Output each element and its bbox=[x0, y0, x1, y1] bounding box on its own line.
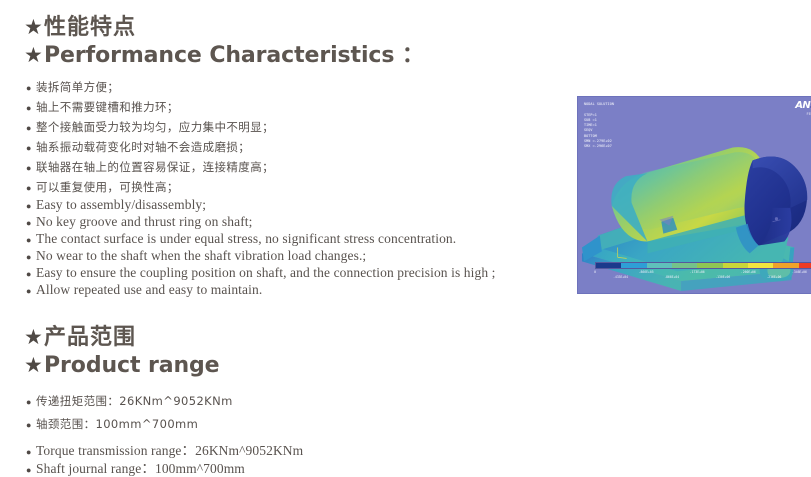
contour-legend: 0.866E+05.173E+06.260E+06.346E+06.433E+0… bbox=[595, 262, 811, 281]
list-item-label: Torque transmission range：26KNm^9052KNm bbox=[36, 439, 303, 459]
legend-swatch-6 bbox=[748, 263, 773, 268]
list-item-label: 可以重复使用，可换性高； bbox=[36, 179, 179, 195]
legend-color-bar bbox=[595, 262, 811, 269]
legend-swatch-3 bbox=[672, 263, 697, 268]
legend-swatch-0 bbox=[596, 263, 621, 268]
list-item-label: No wear to the shaft when the shaft vibr… bbox=[36, 248, 366, 264]
star-icon: ★ bbox=[24, 45, 43, 66]
product-range-heading-block: ★ 产品范围 ★ Product range bbox=[24, 324, 219, 380]
list-item-label: Shaft journal range：100mm^700mm bbox=[36, 457, 245, 477]
list-item: ● 整个接触面受力较为均匀，应力集中不明显； bbox=[26, 119, 274, 139]
performance-list-cn: ● 装拆简单方便； ● 轴上不需要键槽和推力环； ● 整个接触面受力较为均匀，应… bbox=[26, 79, 274, 199]
legend-tick-upper-0: 0 bbox=[594, 270, 596, 274]
bullet-dot-icon: ● bbox=[26, 184, 36, 193]
legend-tick-lower-0: .433E+04 bbox=[613, 275, 628, 279]
performance-heading-cn: 性能特点 bbox=[44, 14, 136, 41]
bullet-dot-icon: ● bbox=[26, 124, 36, 133]
bullet-dot-icon: ● bbox=[26, 104, 36, 113]
ansys-logo-left: AN bbox=[795, 100, 810, 111]
performance-heading-en: Performance Characteristics ： bbox=[44, 41, 424, 70]
list-item-label: Easy to assembly/disassembly; bbox=[36, 197, 206, 213]
star-icon: ★ bbox=[24, 355, 43, 376]
list-item: ● 可以重复使用，可换性高； bbox=[26, 179, 274, 199]
list-item: ● Shaft journal range：100mm^700mm bbox=[26, 457, 303, 475]
fea-date-text: FEB 18 2009 07:40:34 bbox=[807, 112, 811, 123]
legend-tick-labels: 0.866E+05.173E+06.260E+06.346E+06.433E+0… bbox=[595, 269, 811, 280]
product-range-heading-cn-line: ★ 产品范围 bbox=[24, 324, 219, 351]
legend-tick-upper-1: .866E+05 bbox=[639, 270, 654, 274]
list-item: ● No wear to the shaft when the shaft vi… bbox=[26, 248, 496, 265]
ansys-logo: ANSYS bbox=[795, 100, 811, 111]
legend-tick-lower-2: .130E+06 bbox=[715, 275, 730, 279]
legend-swatch-5 bbox=[723, 263, 748, 268]
list-item: ● 轴系振动载荷变化时对轴不会造成磨损； bbox=[26, 139, 274, 159]
bullet-dot-icon: ● bbox=[26, 202, 36, 211]
list-item-label: Easy to ensure the coupling position on … bbox=[36, 265, 496, 281]
product-range-heading-en-line: ★ Product range bbox=[24, 351, 219, 380]
legend-tick-upper-2: .173E+06 bbox=[690, 270, 705, 274]
list-item: ● 传递扭矩范围：26KNm^9052KNm bbox=[26, 393, 233, 416]
list-item: ● Easy to ensure the coupling position o… bbox=[26, 265, 496, 282]
list-item: ● Torque transmission range：26KNm^9052KN… bbox=[26, 439, 303, 457]
performance-list-en: ● Easy to assembly/disassembly; ● No key… bbox=[26, 197, 496, 299]
legend-tick-lower-1: .866E+04 bbox=[664, 275, 679, 279]
list-item-label: No key groove and thrust ring on shaft; bbox=[36, 214, 253, 230]
product-range-heading-en: Product range bbox=[44, 351, 219, 380]
fea-header-text: NODAL SOLUTION STEP=1 SUB =1 TIME=1 SEQV… bbox=[584, 102, 614, 150]
performance-heading-cn-line: ★ 性能特点 bbox=[24, 14, 424, 41]
list-item: ● 轴颈范围：100mm^700mm bbox=[26, 416, 233, 439]
list-item: ● 轴上不需要键槽和推力环； bbox=[26, 99, 274, 119]
bullet-dot-icon: ● bbox=[26, 144, 36, 153]
bullet-dot-icon: ● bbox=[26, 219, 36, 228]
product-range-list-cn: ● 传递扭矩范围：26KNm^9052KNm ● 轴颈范围：100mm^700m… bbox=[26, 393, 233, 439]
list-item: ● Allow repeated use and easy to maintai… bbox=[26, 282, 496, 299]
performance-heading-en-line: ★ Performance Characteristics ： bbox=[24, 41, 424, 70]
bullet-dot-icon: ● bbox=[26, 448, 36, 457]
list-item: ● 联轴器在轴上的位置容易保证，连接精度高； bbox=[26, 159, 274, 179]
legend-tick-lower-3: .216E+06 bbox=[766, 275, 781, 279]
product-range-heading-cn: 产品范围 bbox=[44, 324, 136, 351]
legend-swatch-2 bbox=[647, 263, 672, 268]
star-icon: ★ bbox=[24, 17, 43, 38]
list-item-label: 传递扭矩范围：26KNm^9052KNm bbox=[36, 393, 233, 409]
bullet-dot-icon: ● bbox=[26, 398, 36, 407]
bullet-dot-icon: ● bbox=[26, 253, 36, 262]
legend-swatch-1 bbox=[621, 263, 646, 268]
star-icon: ★ bbox=[24, 327, 43, 348]
ansys-stress-contour-figure: NODAL SOLUTION STEP=1 SUB =1 TIME=1 SEQV… bbox=[577, 96, 811, 294]
bullet-dot-icon: ● bbox=[26, 164, 36, 173]
list-item: ● No key groove and thrust ring on shaft… bbox=[26, 214, 496, 231]
bullet-dot-icon: ● bbox=[26, 270, 36, 279]
bullet-dot-icon: ● bbox=[26, 287, 36, 296]
list-item-label: 轴系振动载荷变化时对轴不会造成磨损； bbox=[36, 139, 250, 155]
bullet-dot-icon: ● bbox=[26, 236, 36, 245]
list-item-label: Allow repeated use and easy to maintain. bbox=[36, 282, 262, 298]
legend-swatch-7 bbox=[773, 263, 798, 268]
legend-swatch-4 bbox=[697, 263, 722, 268]
list-item-label: The contact surface is under equal stres… bbox=[36, 231, 456, 247]
legend-tick-upper-4: .346E+06 bbox=[792, 270, 807, 274]
legend-swatch-8 bbox=[799, 263, 811, 268]
bullet-dot-icon: ● bbox=[26, 84, 36, 93]
bullet-dot-icon: ● bbox=[26, 421, 36, 430]
list-item-label: 轴上不需要键槽和推力环； bbox=[36, 99, 179, 115]
list-item: ● The contact surface is under equal str… bbox=[26, 231, 496, 248]
list-item-label: 联轴器在轴上的位置容易保证，连接精度高； bbox=[36, 159, 274, 175]
list-item: ● 装拆简单方便； bbox=[26, 79, 274, 99]
list-item-label: 整个接触面受力较为均匀，应力集中不明显； bbox=[36, 119, 274, 135]
list-item: ● Easy to assembly/disassembly; bbox=[26, 197, 496, 214]
performance-heading-block: ★ 性能特点 ★ Performance Characteristics ： bbox=[24, 14, 424, 70]
product-range-list-en: ● Torque transmission range：26KNm^9052KN… bbox=[26, 439, 303, 475]
legend-tick-upper-3: .260E+06 bbox=[741, 270, 756, 274]
list-item-label: 装拆简单方便； bbox=[36, 79, 119, 95]
list-item-label: 轴颈范围：100mm^700mm bbox=[36, 416, 198, 432]
bullet-dot-icon: ● bbox=[26, 466, 36, 475]
